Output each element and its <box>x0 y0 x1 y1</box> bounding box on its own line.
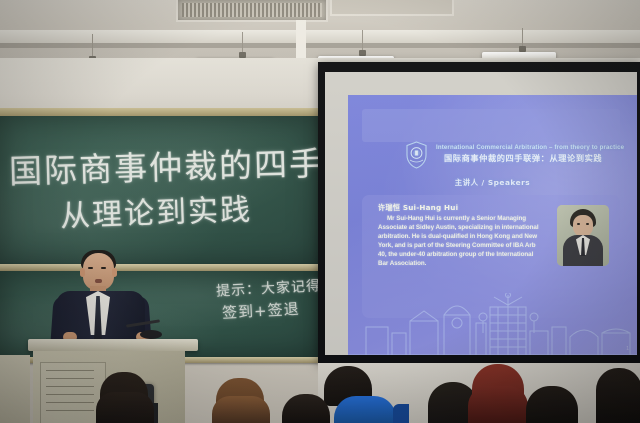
light-rod <box>522 28 523 46</box>
university-shield-icon <box>405 141 428 169</box>
audience-head-6 <box>526 386 578 423</box>
vent-grill <box>182 3 322 17</box>
ac-vent-icon <box>176 0 328 22</box>
slide-title-english: International Commercial Arbitration – f… <box>436 144 636 151</box>
audience-jacket-shoulder <box>393 404 409 423</box>
blackboard-top-trim <box>0 108 318 116</box>
presenter-head <box>83 253 114 290</box>
slide-section-label: 主讲人 / Speakers <box>348 177 637 188</box>
portrait-eye-left <box>577 223 580 225</box>
portrait-eye-right <box>586 223 589 225</box>
city-skyline-graphic <box>348 293 637 355</box>
presenter-ear-right <box>112 268 117 277</box>
speaker-bio-text: Mr Sui-Hang Hui is currently a Senior Ma… <box>378 214 545 269</box>
ceiling-pillar <box>296 20 306 60</box>
microphone-base <box>140 330 162 339</box>
blackboard-title-line2: 从理论到实践 <box>59 185 252 236</box>
slide-page-number: 1 <box>626 346 629 352</box>
presenter-ear-left <box>80 268 85 277</box>
audience-blue-jacket <box>334 396 396 423</box>
speaker-name: 许瑞恒 Sui-Hang Hui <box>378 203 548 213</box>
light-rod <box>362 30 363 50</box>
speaker-portrait-photo <box>557 205 609 266</box>
ceiling-beam-upper <box>0 30 640 43</box>
podium-vent-slots <box>46 370 94 414</box>
ac-vent-secondary <box>330 0 454 16</box>
ceiling-beam-shadow <box>0 43 640 48</box>
light-rod <box>242 32 243 52</box>
presenter-mouth <box>95 279 102 283</box>
projection-screen-surface: International Commercial Arbitration – f… <box>325 72 637 355</box>
slide-title-band <box>362 109 620 142</box>
blackboard-chalk-ledge <box>0 264 318 271</box>
lecture-hall-photo: 国际商事仲裁的四手联弹 从理论到实践 提示：大家记得 签到+签退 Interna… <box>0 0 640 423</box>
audience-hair-2 <box>212 396 270 423</box>
light-rod <box>92 34 93 56</box>
audience-head-7 <box>596 368 640 423</box>
audience-hair-1 <box>96 392 154 423</box>
left-wall-panel <box>0 355 30 423</box>
blackboard-note-line2: 签到+签退 <box>222 298 301 323</box>
portrait-face <box>573 215 593 237</box>
presentation-slide: International Commercial Arbitration – f… <box>348 95 637 355</box>
ceiling <box>0 0 640 58</box>
audience-hair-red <box>468 386 528 423</box>
slide-title-chinese: 国际商事仲裁的四手联弹：从理论到实践 <box>444 152 634 164</box>
podium-desktop <box>28 339 198 351</box>
